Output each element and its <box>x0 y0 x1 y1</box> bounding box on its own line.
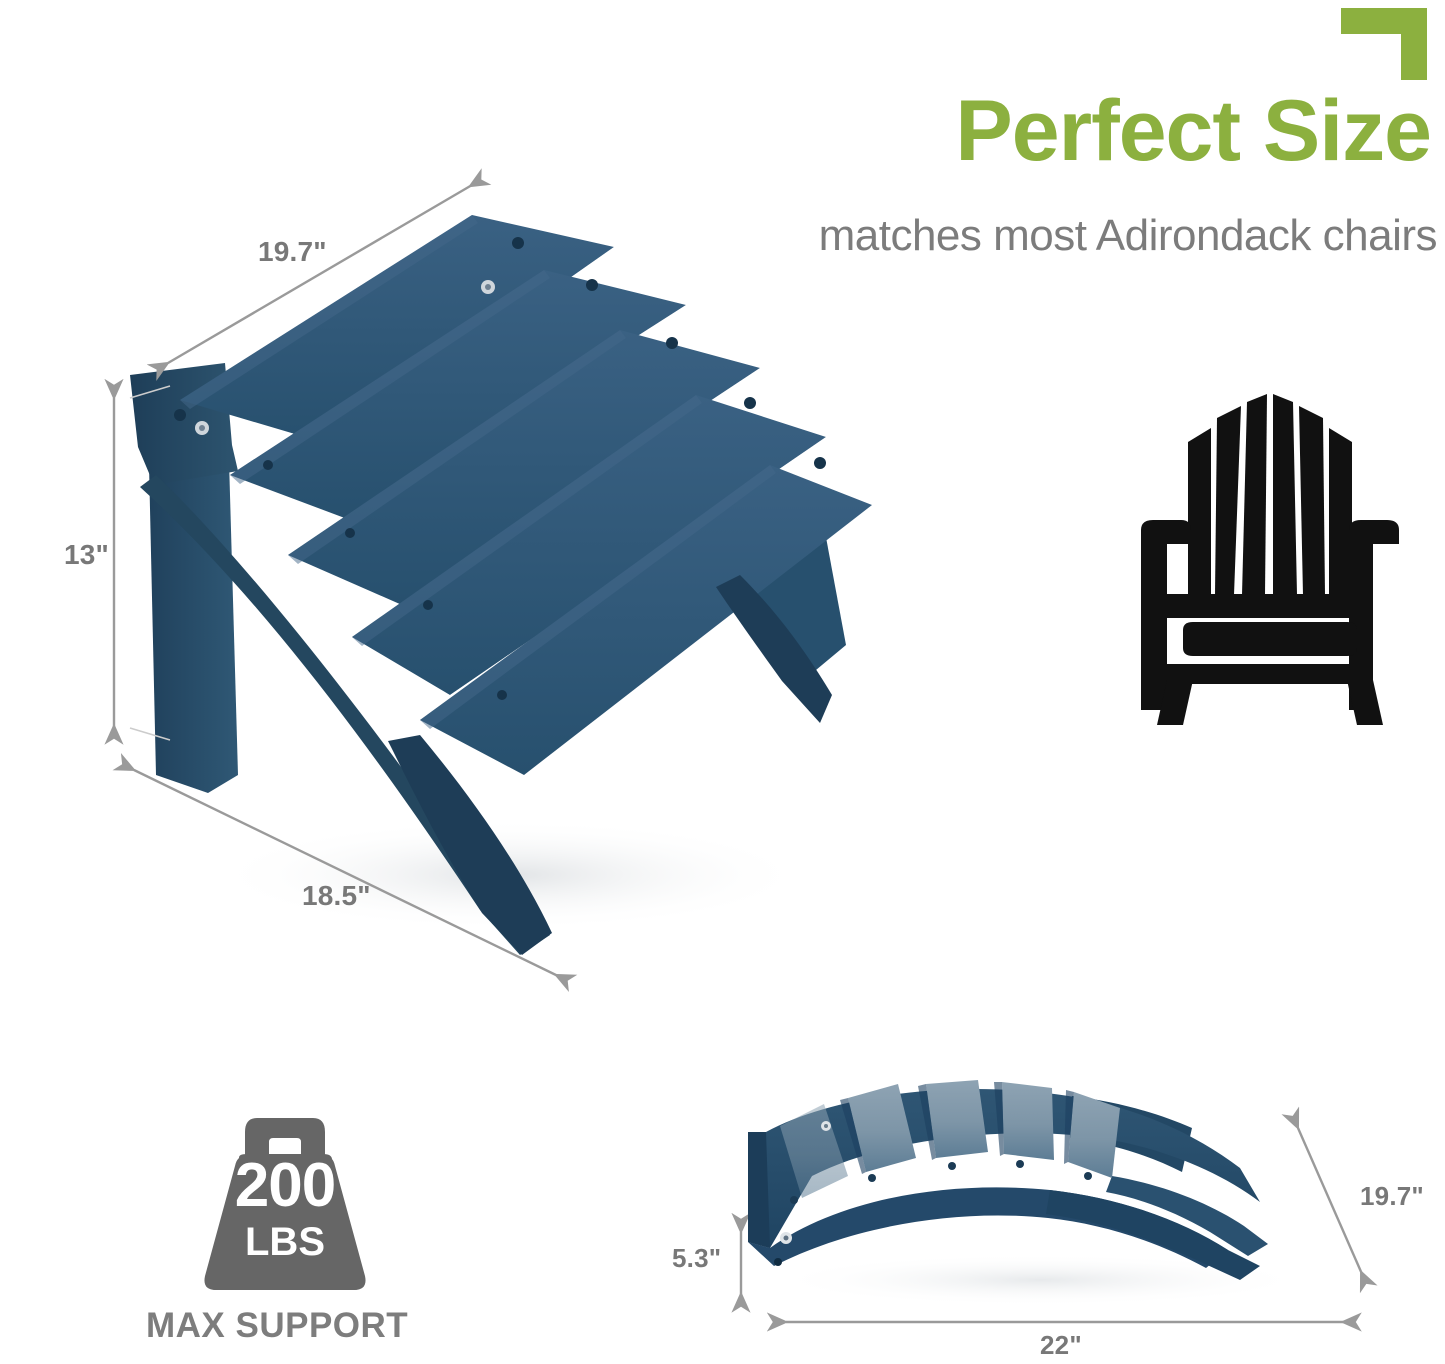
corner-bracket-icon <box>1341 8 1427 80</box>
page-subtitle: matches most Adirondack chairs <box>819 214 1437 258</box>
weight-value: 200 <box>185 1155 385 1217</box>
dimension-label-depth: 19.7" <box>258 236 327 268</box>
ottoman-folded-icon <box>720 1080 1330 1310</box>
folded-dimension-label-depth: 19.7" <box>1360 1181 1424 1212</box>
folded-dimension-label-width: 22" <box>1040 1330 1082 1361</box>
page-title: Perfect Size <box>955 88 1431 174</box>
dimension-label-length: 18.5" <box>302 880 371 912</box>
infographic-canvas: Perfect Size matches most Adirondack cha… <box>0 0 1445 1364</box>
folded-dimension-label-height: 5.3" <box>672 1243 721 1274</box>
weight-unit: LBS <box>185 1222 385 1262</box>
weight-caption: MAX SUPPORT <box>146 1306 408 1346</box>
adirondack-chair-icon <box>1125 380 1410 725</box>
ottoman-3d-icon <box>120 175 880 965</box>
dimension-label-height: 13" <box>64 539 109 571</box>
